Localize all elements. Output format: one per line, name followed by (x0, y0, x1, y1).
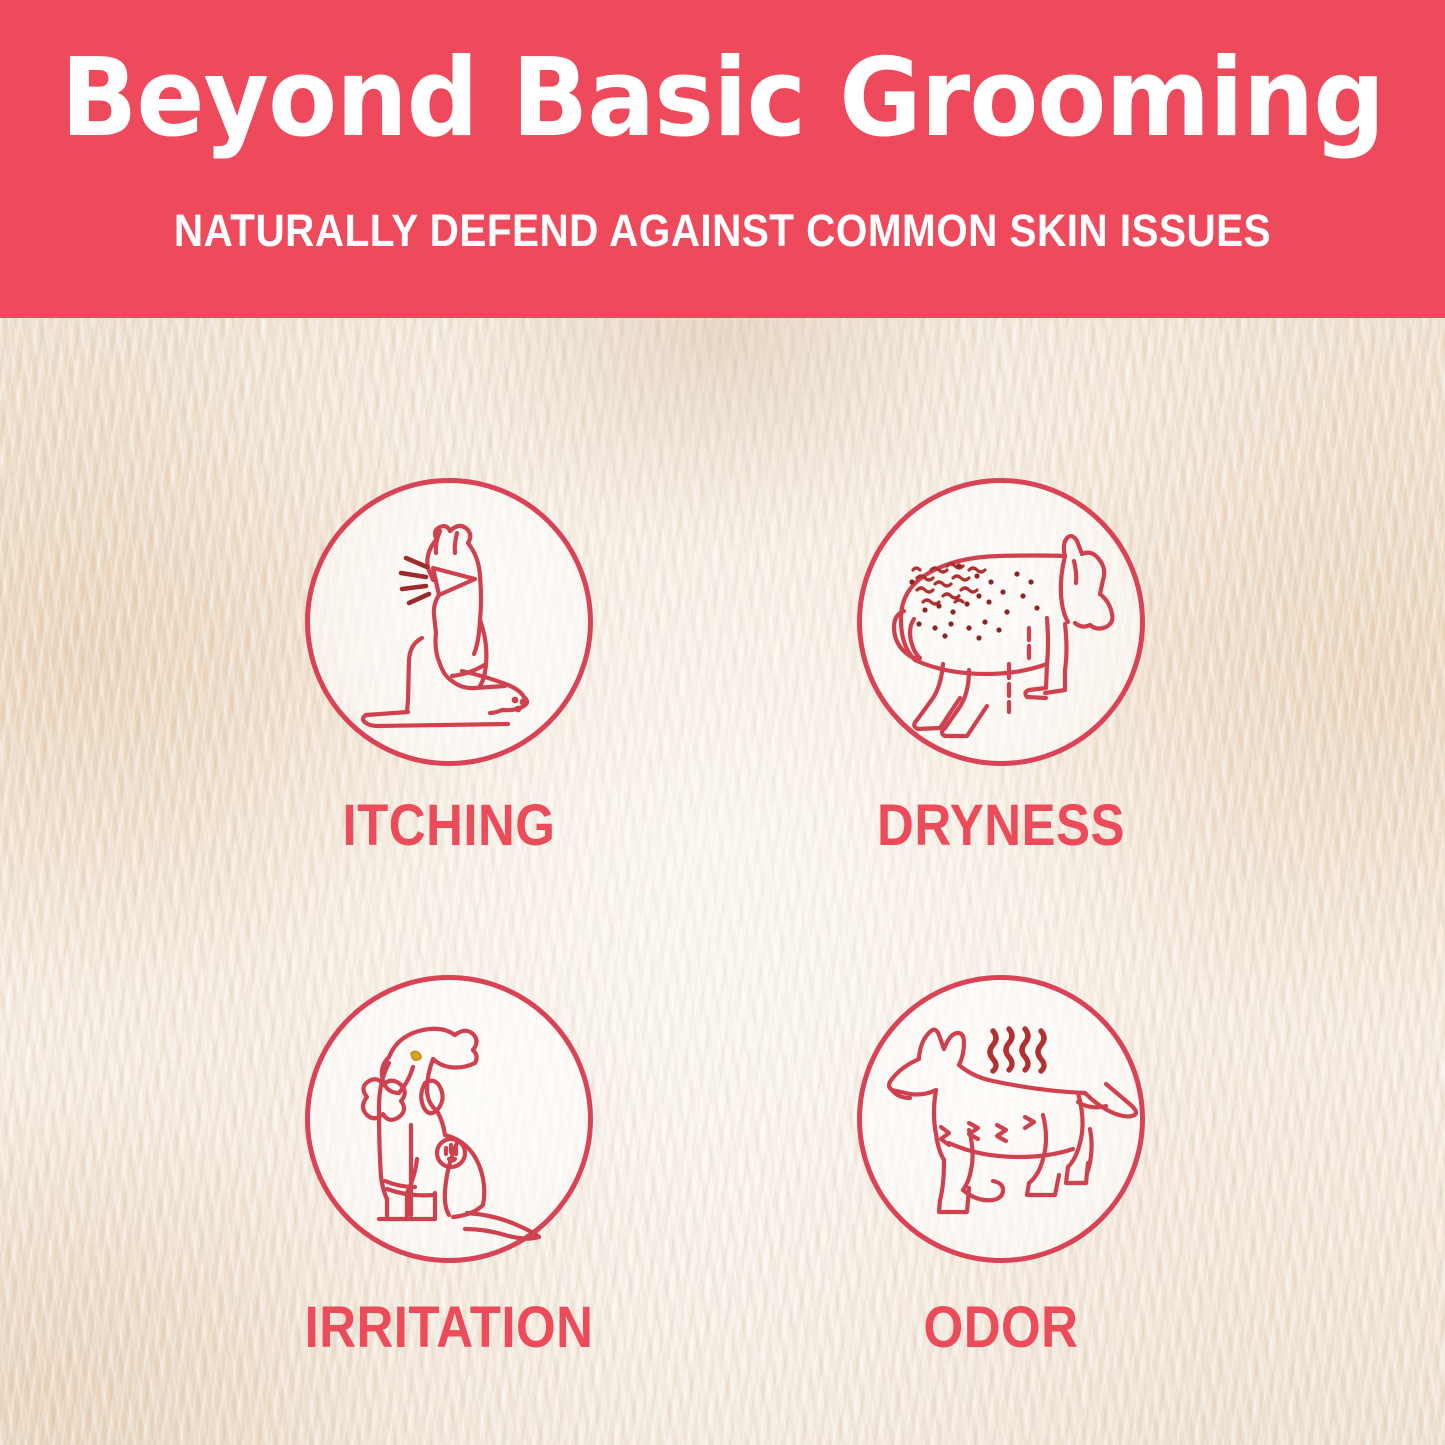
icon-circle-irritation (305, 975, 593, 1263)
header-banner: Beyond Basic Grooming NATURALLY DEFEND A… (0, 0, 1445, 318)
icon-circle-odor (857, 975, 1145, 1263)
icon-circle-itching (305, 478, 593, 766)
dog-dandruff-flakes-icon (857, 478, 1145, 766)
grid-item-label-dryness: DRYNESS (816, 795, 1186, 857)
dog-sitting-irritated-patches-icon (305, 975, 593, 1263)
grid-item-label-itching: ITCHING (264, 795, 634, 857)
dog-scratching-icon (305, 478, 593, 766)
icon-circle-dryness (857, 478, 1145, 766)
grid-item-label-irritation: IRRITATION (264, 1297, 634, 1359)
grid-item-label-odor: ODOR (816, 1297, 1186, 1359)
product-infographic: Beyond Basic Grooming NATURALLY DEFEND A… (0, 0, 1445, 1445)
dog-smell-waves-icon (857, 975, 1145, 1263)
page-subtitle: NATURALLY DEFEND AGAINST COMMON SKIN ISS… (72, 205, 1373, 257)
page-title: Beyond Basic Grooming (51, 40, 1395, 158)
